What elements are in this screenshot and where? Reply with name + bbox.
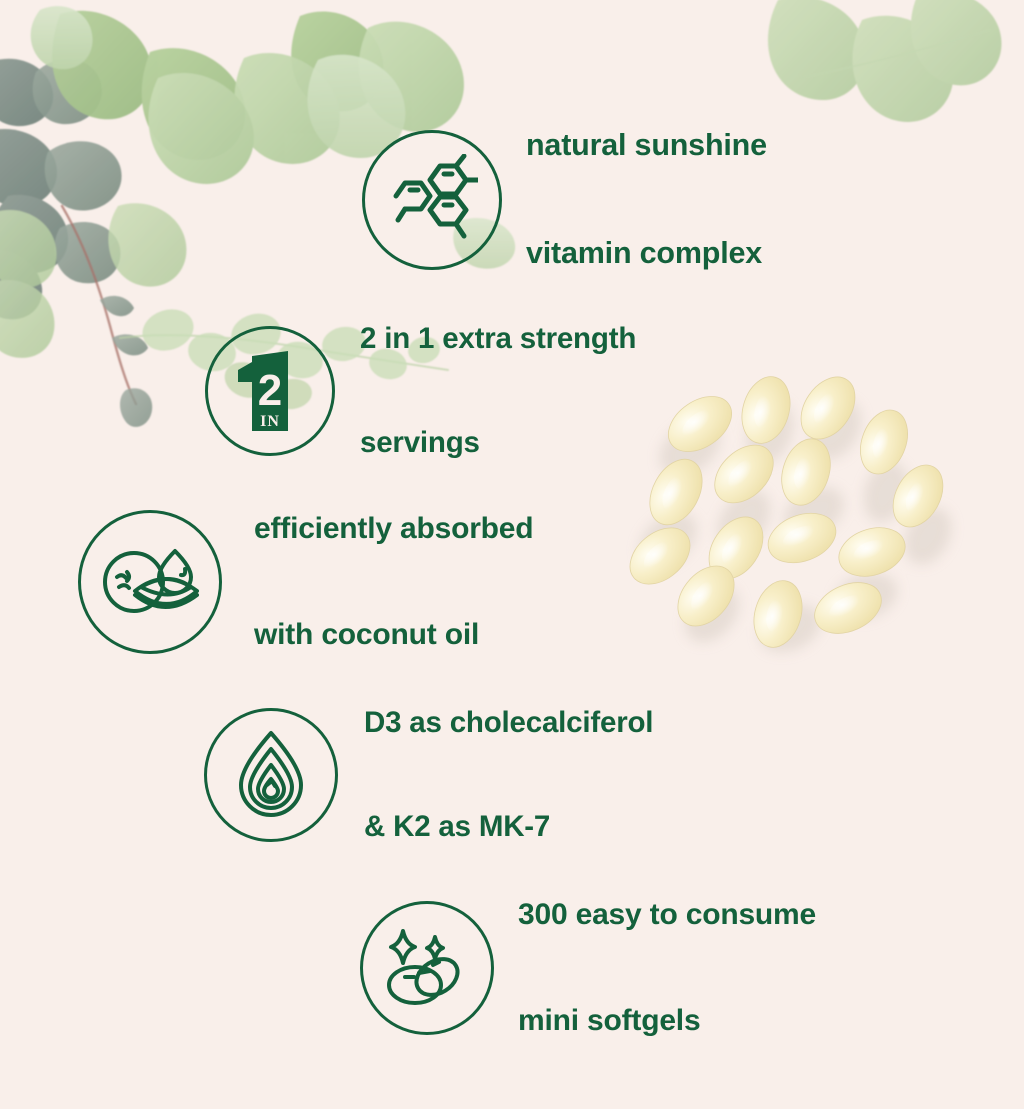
coconut-oil-drop-icon bbox=[78, 510, 222, 654]
infographic-canvas: natural sunshine vitamin complex 2 IN 2 … bbox=[0, 0, 1024, 1024]
svg-text:2: 2 bbox=[258, 366, 282, 415]
svg-text:IN: IN bbox=[260, 413, 280, 430]
benefit-label-5: 300 easy to consume mini softgels bbox=[518, 826, 816, 1109]
molecule-hexagons-icon bbox=[362, 130, 502, 270]
two-in-one-badge-icon: 2 IN bbox=[205, 326, 335, 456]
benefit-list: natural sunshine vitamin complex 2 IN 2 … bbox=[0, 0, 1024, 1024]
benefit-row-5: 300 easy to consume mini softgels bbox=[360, 826, 816, 1109]
spiral-droplet-icon bbox=[204, 708, 338, 842]
softgel-sparkle-icon bbox=[360, 901, 494, 1035]
